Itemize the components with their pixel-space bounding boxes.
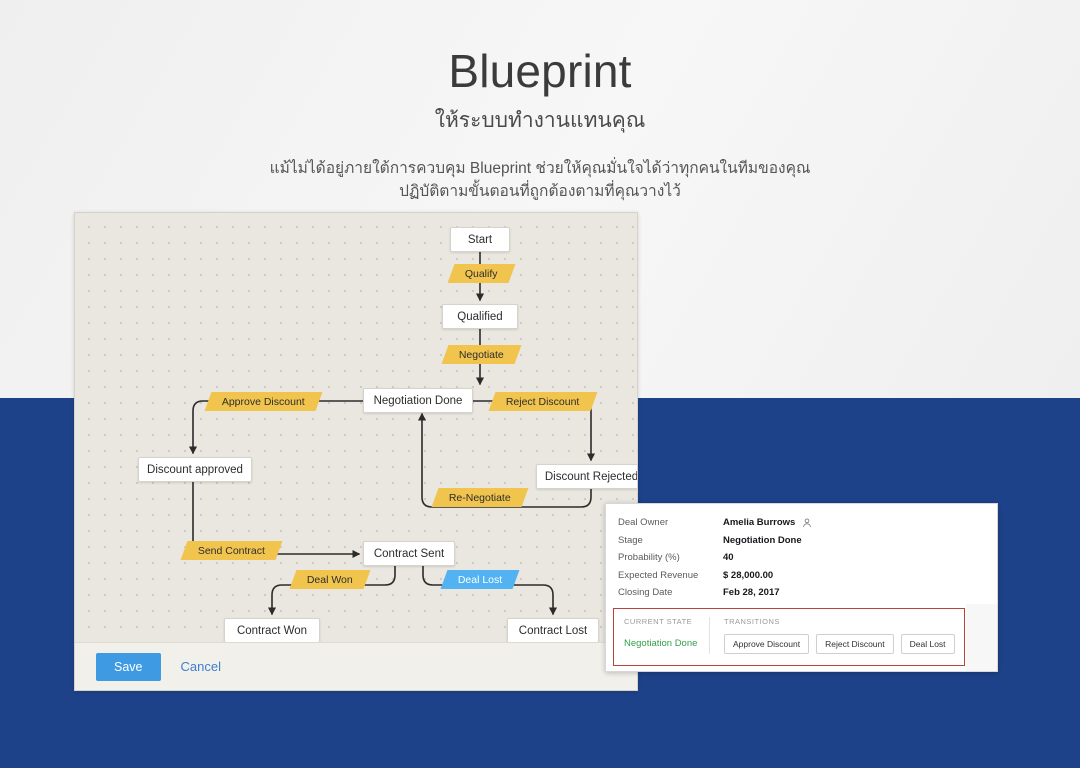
node-discount-approved[interactable]: Discount approved [138, 457, 252, 482]
field-label: Closing Date [618, 587, 723, 598]
transition-label: Approve Discount [222, 396, 305, 408]
field-row-deal-owner: Deal Owner Amelia Burrows [618, 514, 997, 532]
node-contract-lost[interactable]: Contract Lost [507, 618, 599, 643]
node-start[interactable]: Start [450, 227, 510, 252]
blueprint-canvas[interactable]: Start Qualified Negotiation Done Discoun… [74, 212, 638, 691]
node-label: Contract Lost [519, 625, 587, 637]
page-subtitle: ให้ระบบทำงานแทนคุณ [0, 104, 1080, 137]
node-label: Discount approved [147, 464, 243, 476]
transition-buttons: Approve Discount Reject Discount Deal Lo… [724, 634, 955, 654]
transition-label: Negotiate [459, 349, 504, 361]
transition-label: Re-Negotiate [449, 492, 511, 504]
field-value-wrap: Amelia Burrows [723, 517, 812, 528]
transition-label: Qualify [465, 268, 498, 280]
transition-label: Send Contract [198, 545, 265, 557]
transition-button-deal-lost[interactable]: Deal Lost [901, 634, 955, 654]
transitions-inner: CURRENT STATE Negotiation Done TRANSITIO… [614, 609, 964, 654]
transition-deal-lost[interactable]: Deal Lost [441, 570, 520, 589]
description-line-1: แม้ไม่ได้อยู่ภายใต้การควบคุม Blueprint ช… [0, 157, 1080, 180]
node-label: Contract Won [237, 625, 307, 637]
current-state-value: Negotiation Done [624, 638, 701, 649]
description-line-2: ปฏิบัติตามขั้นตอนที่ถูกต้องตามที่คุณวางไ… [0, 180, 1080, 203]
transition-label: Deal Lost [458, 574, 502, 586]
field-value: Feb 28, 2017 [723, 587, 780, 598]
transition-approve-discount[interactable]: Approve Discount [205, 392, 323, 411]
node-contract-won[interactable]: Contract Won [224, 618, 320, 643]
field-row-probability: Probability (%) 40 [618, 549, 997, 567]
node-negotiation-done[interactable]: Negotiation Done [363, 388, 473, 413]
field-label: Probability (%) [618, 552, 723, 563]
transition-negotiate[interactable]: Negotiate [442, 345, 522, 364]
node-label: Start [468, 234, 492, 246]
page-description: แม้ไม่ได้อยู่ภายใต้การควบคุม Blueprint ช… [0, 157, 1080, 204]
field-row-stage: Stage Negotiation Done [618, 532, 997, 550]
field-value: Amelia Burrows [723, 517, 795, 528]
transition-deal-won[interactable]: Deal Won [290, 570, 371, 589]
transition-re-negotiate[interactable]: Re-Negotiate [432, 488, 529, 507]
transition-button-approve-discount[interactable]: Approve Discount [724, 634, 809, 654]
field-value: $ 28,000.00 [723, 570, 773, 581]
deal-detail-panel[interactable]: Deal Owner Amelia Burrows Stage Negotiat… [605, 503, 998, 672]
deal-fields: Deal Owner Amelia Burrows Stage Negotiat… [606, 504, 997, 608]
page-root: Blueprint ให้ระบบทำงานแทนคุณ แม้ไม่ได้อย… [0, 0, 1080, 768]
field-row-expected-revenue: Expected Revenue $ 28,000.00 [618, 567, 997, 585]
current-state-heading: CURRENT STATE [624, 617, 701, 626]
field-label: Stage [618, 535, 723, 546]
node-label: Negotiation Done [374, 395, 463, 407]
node-label: Qualified [457, 311, 502, 323]
transitions-highlight-box: CURRENT STATE Negotiation Done TRANSITIO… [613, 608, 965, 666]
user-icon [802, 518, 812, 528]
node-discount-rejected[interactable]: Discount Rejected [536, 464, 638, 489]
transition-reject-discount[interactable]: Reject Discount [489, 392, 597, 411]
node-label: Discount Rejected [545, 471, 638, 483]
field-row-closing-date: Closing Date Feb 28, 2017 [618, 584, 997, 602]
node-label: Contract Sent [374, 548, 444, 560]
transition-label: Deal Won [307, 574, 353, 586]
node-contract-sent[interactable]: Contract Sent [363, 541, 455, 566]
canvas-toolbar: Save Cancel [75, 642, 638, 690]
page-header: Blueprint ให้ระบบทำงานแทนคุณ แม้ไม่ได้อย… [0, 0, 1080, 203]
panel-filler [966, 604, 998, 672]
cancel-button[interactable]: Cancel [181, 659, 221, 674]
field-value: 40 [723, 552, 734, 563]
field-label: Expected Revenue [618, 570, 723, 581]
transitions-heading: TRANSITIONS [724, 617, 955, 626]
transition-send-contract[interactable]: Send Contract [181, 541, 283, 560]
node-qualified[interactable]: Qualified [442, 304, 518, 329]
transition-button-reject-discount[interactable]: Reject Discount [816, 634, 894, 654]
transition-qualify[interactable]: Qualify [448, 264, 516, 283]
field-value: Negotiation Done [723, 535, 802, 546]
transition-label: Reject Discount [506, 396, 580, 408]
field-label: Deal Owner [618, 517, 723, 528]
transitions-column: TRANSITIONS Approve Discount Reject Disc… [710, 617, 955, 654]
page-title: Blueprint [0, 45, 1080, 98]
current-state-column: CURRENT STATE Negotiation Done [624, 617, 710, 654]
save-button[interactable]: Save [96, 653, 161, 681]
